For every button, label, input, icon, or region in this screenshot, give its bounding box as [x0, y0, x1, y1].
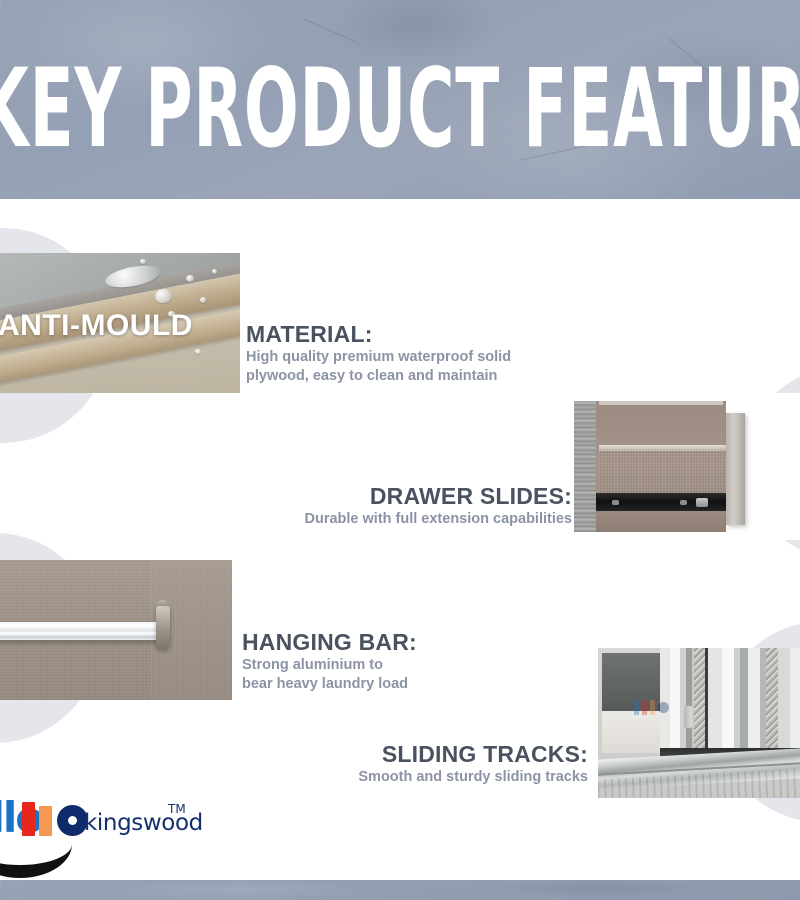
feature-desc-hanging-bar-line1: Strong aluminium to [242, 656, 417, 675]
feature-text-sliding-tracks: SLIDING TRACKS: Smooth and sturdy slidin… [262, 740, 588, 787]
feature-desc-material-line1: High quality premium waterproof solid [246, 348, 511, 367]
feature-title-drawer-slides: DRAWER SLIDES: [232, 482, 572, 510]
feature-title-material: MATERIAL: [246, 320, 511, 348]
feature-text-drawer-slides: DRAWER SLIDES: Durable with full extensi… [232, 482, 572, 529]
plywood-water-droplets-photo: ANTI-MOULD [0, 253, 240, 393]
feature-text-hanging-bar: HANGING BAR: Strong aluminium to bear he… [242, 628, 417, 694]
feature-title-hanging-bar: HANGING BAR: [242, 628, 417, 656]
watermark-logo [634, 694, 744, 720]
logo-letter-shapes [20, 800, 88, 836]
brand-logo: ello kingswood TM [0, 800, 204, 870]
logo-smile-icon [0, 838, 72, 878]
footer-banner [0, 880, 800, 900]
feature-title-sliding-tracks: SLIDING TRACKS: [262, 740, 588, 768]
sliding-door-track-photo [598, 648, 800, 798]
header-banner: KEY PRODUCT FEATURES [0, 0, 800, 199]
feature-text-material: MATERIAL: High quality premium waterproo… [246, 320, 511, 386]
aluminium-hanging-bar-photo [0, 560, 232, 700]
logo-bar-orange-icon [39, 806, 52, 836]
logo-trademark: TM [168, 802, 186, 816]
feature-desc-drawer-slides: Durable with full extension capabilities [232, 510, 572, 529]
page-title: KEY PRODUCT FEATURES [0, 55, 800, 164]
feature-desc-material-line2: plywood, easy to clean and maintain [246, 367, 511, 386]
anti-mould-label: ANTI-MOULD [0, 309, 238, 343]
footer-texture [0, 880, 800, 900]
drawer-slide-rail-photo [568, 393, 800, 540]
logo-bar-red-icon [22, 802, 35, 836]
feature-desc-hanging-bar-line2: bear heavy laundry load [242, 675, 417, 694]
feature-desc-sliding-tracks: Smooth and sturdy sliding tracks [262, 768, 588, 787]
